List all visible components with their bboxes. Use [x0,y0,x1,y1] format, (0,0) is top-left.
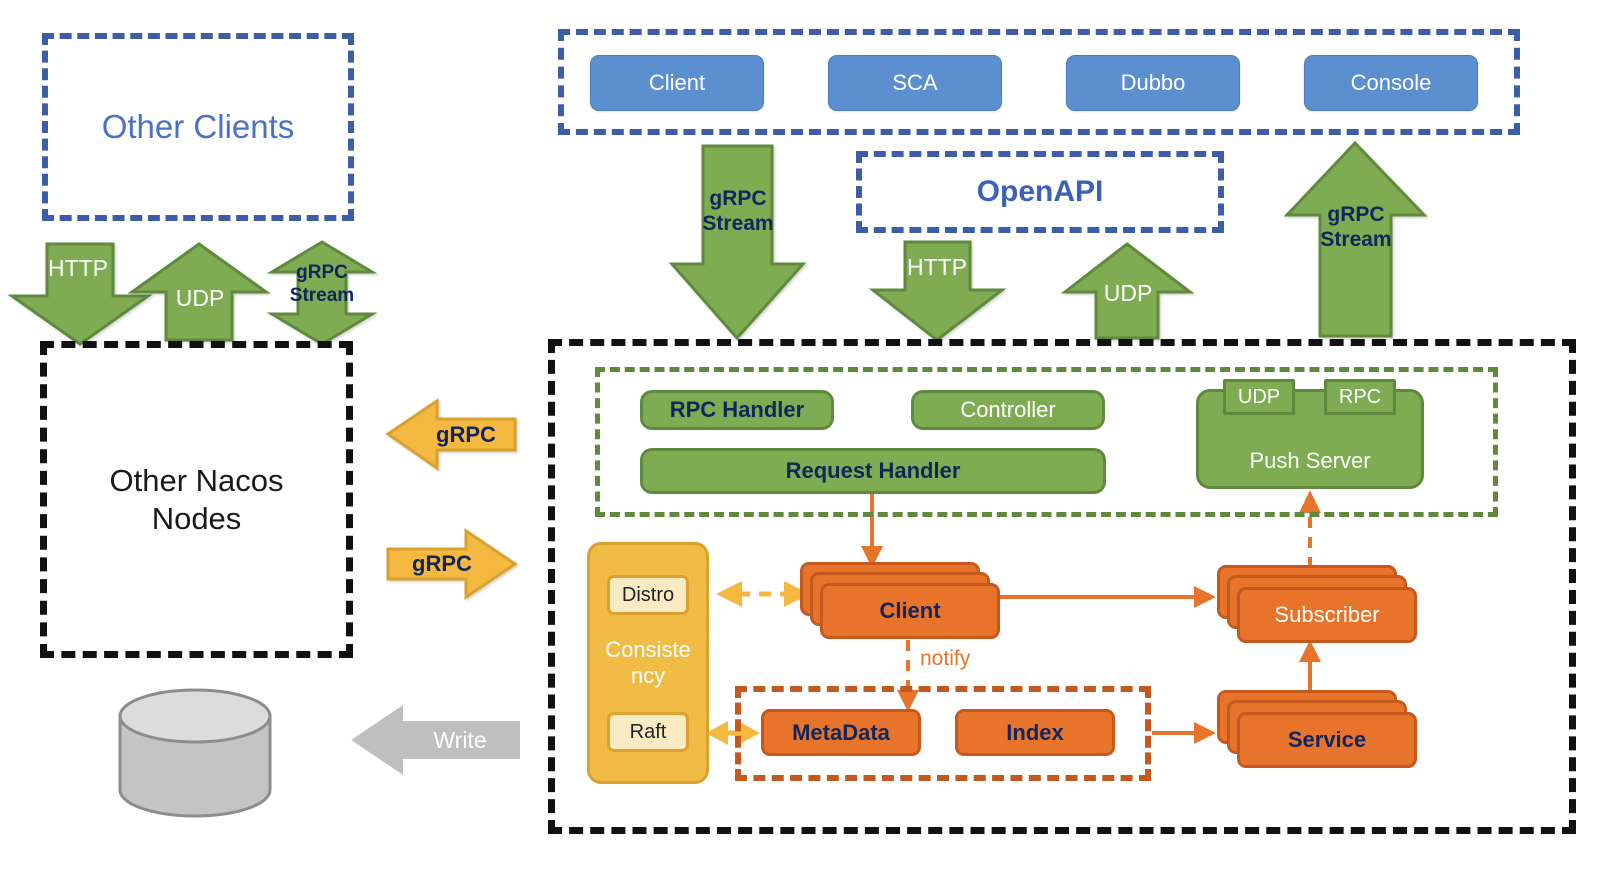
arrow-udp-middle-label: UDP [1088,278,1168,308]
consistency-item-distro[interactable]: Distro [607,575,689,615]
request-handler-box[interactable]: Request Handler [640,448,1106,494]
client-box-client[interactable]: Client [590,55,764,111]
consistency-title: Consiste ncy [587,630,709,696]
nacos-nodes-line1: Other Nacos [109,462,283,500]
push-server-label: Push Server [1249,448,1370,474]
arrow-grpc-stream-left-label: gRPC Stream [262,255,382,315]
grpc-line1: gRPC [296,262,348,285]
push-tab-rpc[interactable]: RPC [1324,379,1396,415]
grpc-line2: Stream [290,285,354,308]
notify-label: notify [920,645,1030,673]
client-stack[interactable]: Client [820,583,1000,639]
controller-box[interactable]: Controller [911,390,1105,430]
arrow-grpc-stream-up-label: gRPC Stream [1296,196,1416,258]
grpc-up-line1: gRPC [1327,202,1384,227]
architecture-diagram: Other Clients HTTP UDP gRPC Stream Other… [0,0,1624,882]
nacos-nodes-line2: Nodes [152,500,242,538]
arrow-http-left-label: HTTP [38,253,118,283]
arrow-grpc-left-label: gRPC [420,420,512,450]
grpc-up-line2: Stream [1320,227,1391,252]
rpc-handler-box[interactable]: RPC Handler [640,390,834,430]
arrow-grpc-stream-down-label: gRPC Stream [678,180,798,242]
index-box[interactable]: Index [955,709,1115,756]
client-box-console[interactable]: Console [1304,55,1478,111]
other-clients-label: Other Clients [42,33,354,221]
push-tab-udp[interactable]: UDP [1223,379,1295,415]
arrow-grpc-stream-down [672,146,803,338]
consistency-title-line2: ncy [631,663,665,689]
database-cylinder [120,690,270,816]
service-stack[interactable]: Service [1237,712,1417,768]
consistency-title-line1: Consiste [605,637,691,663]
grpc-down-line2: Stream [702,211,773,236]
consistency-item-raft[interactable]: Raft [607,712,689,752]
openapi-label: OpenAPI [856,151,1224,233]
arrow-http-middle-label: HTTP [897,252,977,282]
client-box-dubbo[interactable]: Dubbo [1066,55,1240,111]
arrow-grpc-right-label: gRPC [396,549,488,579]
grpc-down-line1: gRPC [709,186,766,211]
subscriber-stack[interactable]: Subscriber [1237,587,1417,643]
client-box-sca[interactable]: SCA [828,55,1002,111]
arrow-write-label: Write [410,725,510,755]
arrow-udp-left-label: UDP [160,283,240,313]
metadata-box[interactable]: MetaData [761,709,921,756]
other-nacos-nodes-label: Other Nacos Nodes [40,341,353,658]
